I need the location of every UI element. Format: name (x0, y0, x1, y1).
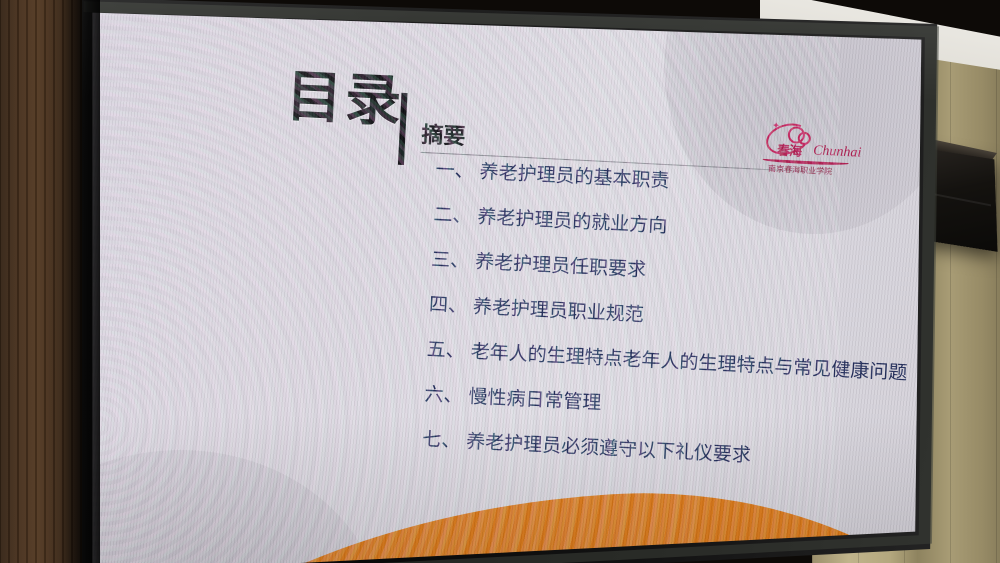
screen-glare (66, 0, 946, 563)
display-screen[interactable]: 目录 摘要 一、 养老护理员的基本职责 二、 养老护理员的就业方向 三、 (66, 0, 946, 563)
slide-canvas: 目录 摘要 一、 养老护理员的基本职责 二、 养老护理员的就业方向 三、 (66, 0, 946, 563)
left-wall-shadow (60, 0, 100, 563)
photo-scene: 目录 摘要 一、 养老护理员的基本职责 二、 养老护理员的就业方向 三、 (0, 0, 1000, 563)
